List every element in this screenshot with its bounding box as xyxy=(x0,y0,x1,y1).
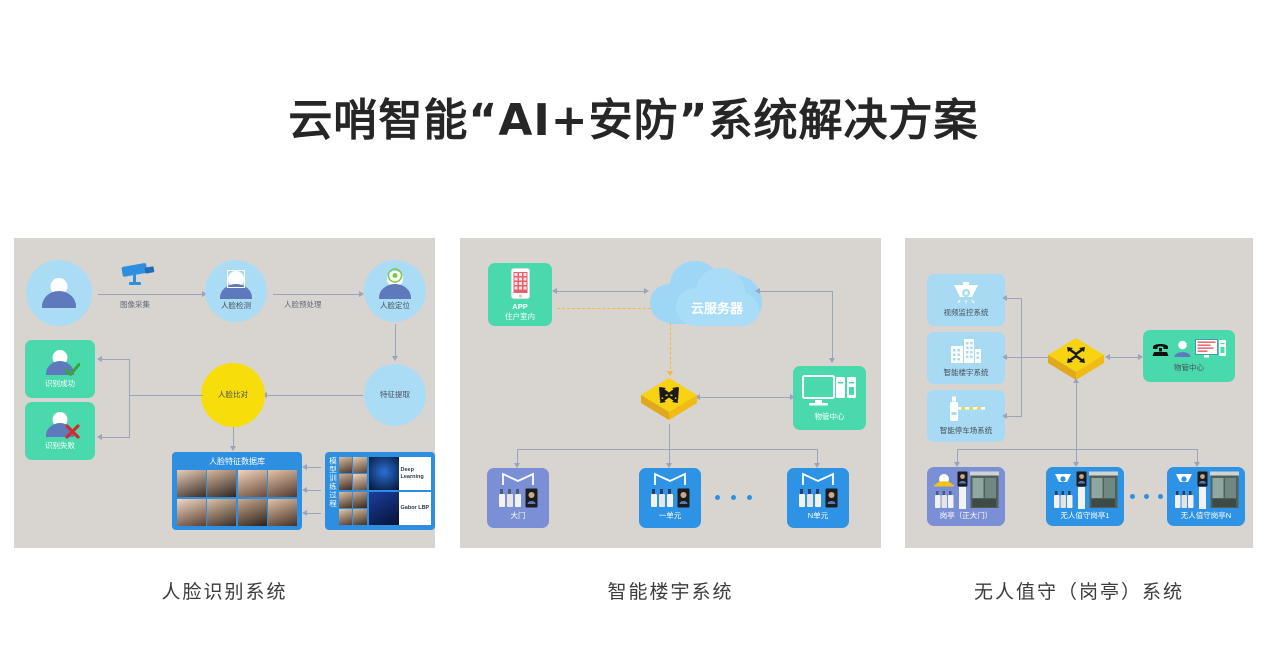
caption-face-recognition: 人脸识别系统 xyxy=(14,577,435,604)
office-buildings-icon xyxy=(949,338,983,364)
edge-train-db-line-1 xyxy=(307,467,321,468)
node-booth-n: 无人值守岗亭N xyxy=(1167,467,1245,526)
edge-compare-result-line xyxy=(129,395,203,396)
node-booth-1: 无人值守岗亭1 xyxy=(1046,467,1124,526)
edge-tree-drop-1 xyxy=(517,449,518,463)
face-terminal-icon xyxy=(1076,471,1087,509)
node-label: 视频监控系统 xyxy=(944,308,989,317)
node-unit-n: N单元 xyxy=(787,468,849,528)
page-title: 云哨智能“AI+安防”系统解决方案 xyxy=(0,84,1267,148)
edge-train-db-line-2 xyxy=(307,490,321,491)
node-main-gate: 大门 xyxy=(487,468,549,528)
node-label: 智能楼宇系统 xyxy=(944,368,989,377)
edge-preprocess-line xyxy=(273,294,359,295)
edge-cloud-property-line xyxy=(760,291,832,292)
training-face-grid xyxy=(339,457,367,525)
node-booth-main: 岗亭（正大门） xyxy=(927,467,1005,526)
guard-booth-icon xyxy=(1210,471,1239,509)
edge-switch-property-line3 xyxy=(1110,357,1138,358)
security-guard-icon xyxy=(933,471,955,509)
panel-unattended-booth: 视频监控系统 智能楼宇系统 xyxy=(905,238,1253,548)
node-label: 岗亭（正大门） xyxy=(940,511,993,520)
edge-result-success-arrow xyxy=(97,356,102,362)
edge-switch-property-arrow-r xyxy=(790,394,795,400)
edge-locate-feature-line xyxy=(395,324,396,356)
node-label: 人脸比对 xyxy=(218,390,248,399)
operator-person-icon xyxy=(1174,340,1191,357)
edge-switch-property-line xyxy=(700,397,790,398)
edge-tree-drop-2 xyxy=(669,449,670,463)
turnstile-icon xyxy=(650,488,674,508)
edge-feature-compare-line xyxy=(267,395,363,396)
edge-tree-drop-3 xyxy=(817,449,818,463)
node-model-training: 模型训练过程 Deep Learning Gabor LBP xyxy=(325,452,435,530)
telephone-icon xyxy=(1151,341,1170,357)
node-label: N单元 xyxy=(808,511,828,520)
edge-result-fail-arrow xyxy=(97,434,102,440)
node-feature-extract: 特征提取 xyxy=(364,364,426,426)
edge-switch-tree-bar xyxy=(517,449,817,450)
node-recognize-success: 识别成功 xyxy=(25,340,95,398)
node-label: 人脸定位 xyxy=(380,301,410,310)
node-app: APP 住户室内 xyxy=(488,263,552,326)
edge-train-db-line-3 xyxy=(307,513,321,514)
edge-switch-tree-stem xyxy=(669,424,670,449)
turnstile-icon xyxy=(498,488,522,508)
edge-booth-drop-3 xyxy=(1197,449,1198,462)
desktop-monitor-icon xyxy=(1195,339,1227,358)
edge-left-bus-bot-arrow xyxy=(1002,413,1007,419)
desktop-monitor-icon xyxy=(802,374,858,408)
face-terminal-icon xyxy=(1197,471,1208,509)
network-switch-icon xyxy=(638,374,700,424)
turnstile-gate-icon xyxy=(801,472,835,486)
ellipsis-dots xyxy=(1130,494,1163,499)
check-mark-icon xyxy=(65,363,80,376)
person-icon xyxy=(378,271,412,299)
deep-learning-label: Deep Learning xyxy=(401,467,432,480)
edge-result-fail-line xyxy=(102,437,130,438)
edge-app-cloud-line xyxy=(557,291,644,292)
person-icon xyxy=(41,278,77,308)
edge-result-success-line xyxy=(102,359,130,360)
gabor-lbp-label: Gabor LBP xyxy=(401,505,430,511)
edge-left-bus-top xyxy=(1007,298,1022,299)
gabor-lbp-thumb xyxy=(369,492,399,525)
edge-booth-bar xyxy=(957,449,1197,450)
cctv-camera-icon xyxy=(119,260,161,288)
turnstile-gate-icon xyxy=(501,472,535,486)
node-face-compare: 人脸比对 xyxy=(201,363,265,427)
node-label: 一单元 xyxy=(659,511,682,520)
edge-train-db-arrow-3 xyxy=(302,510,307,516)
edge-switch-property-arrow-l3 xyxy=(1105,354,1110,360)
panel-face-recognition: 图像采集 人脸检测 人脸预处理 人脸定位 特征提取 人脸 xyxy=(14,238,435,548)
face-thumbnail-grid xyxy=(177,470,297,526)
node-smart-building-sys: 智能楼宇系统 xyxy=(927,332,1005,384)
node-recognize-fail: 识别失败 xyxy=(25,402,95,460)
smartphone-icon xyxy=(511,268,530,299)
node-label: 识别失败 xyxy=(45,441,75,450)
edge-switch-booth-arrow-up xyxy=(1073,378,1079,383)
guard-booth-icon xyxy=(1089,471,1118,509)
turnstile-with-camera-icon xyxy=(1052,471,1074,509)
edge-train-db-arrow-2 xyxy=(302,487,307,493)
training-method-panels: Deep Learning Gabor LBP xyxy=(369,457,432,525)
node-label: APP xyxy=(512,302,527,311)
edge-booth-drop-1 xyxy=(957,449,958,462)
edge-cloud-property-arrow xyxy=(755,288,760,294)
caption-unattended-booth: 无人值守（岗亭）系统 xyxy=(905,577,1253,604)
cloud-icon: 云服务器 xyxy=(647,258,771,330)
edge-left-bus-top-arrow xyxy=(1002,295,1007,301)
edge-label-image-capture: 图像采集 xyxy=(120,299,150,310)
db-title: 人脸特征数据库 xyxy=(177,456,297,467)
node-smart-parking: 智能停车场系统 xyxy=(927,390,1005,442)
dome-camera-icon xyxy=(951,282,981,304)
edge-left-bus-mid-arrow xyxy=(1002,354,1007,360)
edge-capture-line xyxy=(98,294,202,295)
node-label: 智能停车场系统 xyxy=(940,426,993,435)
guard-booth-icon xyxy=(970,471,999,509)
target-locate-icon xyxy=(388,268,403,283)
node-label: 人脸检测 xyxy=(221,301,251,310)
node-person-capture xyxy=(26,260,92,326)
node-label: 特征提取 xyxy=(380,390,410,399)
node-label: 大门 xyxy=(511,511,526,520)
face-terminal-icon xyxy=(957,471,968,509)
edge-booth-drop-2 xyxy=(1076,449,1077,462)
person-icon xyxy=(219,271,253,299)
node-label: 无人值守岗亭1 xyxy=(1060,511,1109,520)
person-icon xyxy=(45,412,75,437)
edge-train-db-arrow-1 xyxy=(302,464,307,470)
edge-locate-feature-arrow xyxy=(392,356,398,361)
edge-app-cloud-arrow-left xyxy=(552,288,557,294)
edge-compare-db-line xyxy=(233,427,234,446)
turnstile-gate-icon xyxy=(653,472,687,486)
node-label: 无人值守岗亭N xyxy=(1181,511,1231,520)
cloud-label: 云服务器 xyxy=(691,301,744,317)
parking-barrier-icon xyxy=(945,396,987,422)
edge-property-vline xyxy=(832,291,833,360)
node-face-locate: 人脸定位 xyxy=(364,260,426,322)
network-switch-icon xyxy=(1045,334,1107,384)
node-face-database: 人脸特征数据库 xyxy=(172,452,302,530)
cross-mark-icon xyxy=(65,424,80,439)
ellipsis-dots xyxy=(715,495,752,500)
node-property-center: 物管中心 xyxy=(793,366,866,430)
person-icon xyxy=(45,350,75,375)
node-face-detect: 人脸检测 xyxy=(205,260,267,322)
node-unit-one: 一单元 xyxy=(639,468,701,528)
edge-label-face-preprocess: 人脸预处理 xyxy=(284,299,322,310)
node-label: 识别成功 xyxy=(45,379,75,388)
node-sublabel: 住户室内 xyxy=(505,312,535,321)
caption-smart-building: 智能楼宇系统 xyxy=(460,577,881,604)
node-label: 物管中心 xyxy=(1174,363,1204,372)
edge-switch-booth-stem xyxy=(1076,383,1077,449)
node-property-center-3: 物管中心 xyxy=(1143,330,1235,382)
edge-property-down-arrow xyxy=(829,358,835,363)
model-training-label: 模型训练过程 xyxy=(329,457,337,525)
face-terminal-icon xyxy=(525,488,538,508)
node-label: 物管中心 xyxy=(815,412,845,421)
turnstile-icon xyxy=(798,488,822,508)
face-terminal-icon xyxy=(677,488,690,508)
edge-result-branch-vline xyxy=(129,359,130,437)
deep-learning-thumb xyxy=(369,457,399,490)
edge-left-bus-bot xyxy=(1007,416,1022,417)
panel-smart-building: APP 住户室内 云服务器 物管中心 xyxy=(460,238,881,548)
face-terminal-icon xyxy=(825,488,838,508)
turnstile-with-camera-icon xyxy=(1173,471,1195,509)
edge-compare-db-arrow xyxy=(230,446,236,451)
node-video-surveillance: 视频监控系统 xyxy=(927,274,1005,326)
